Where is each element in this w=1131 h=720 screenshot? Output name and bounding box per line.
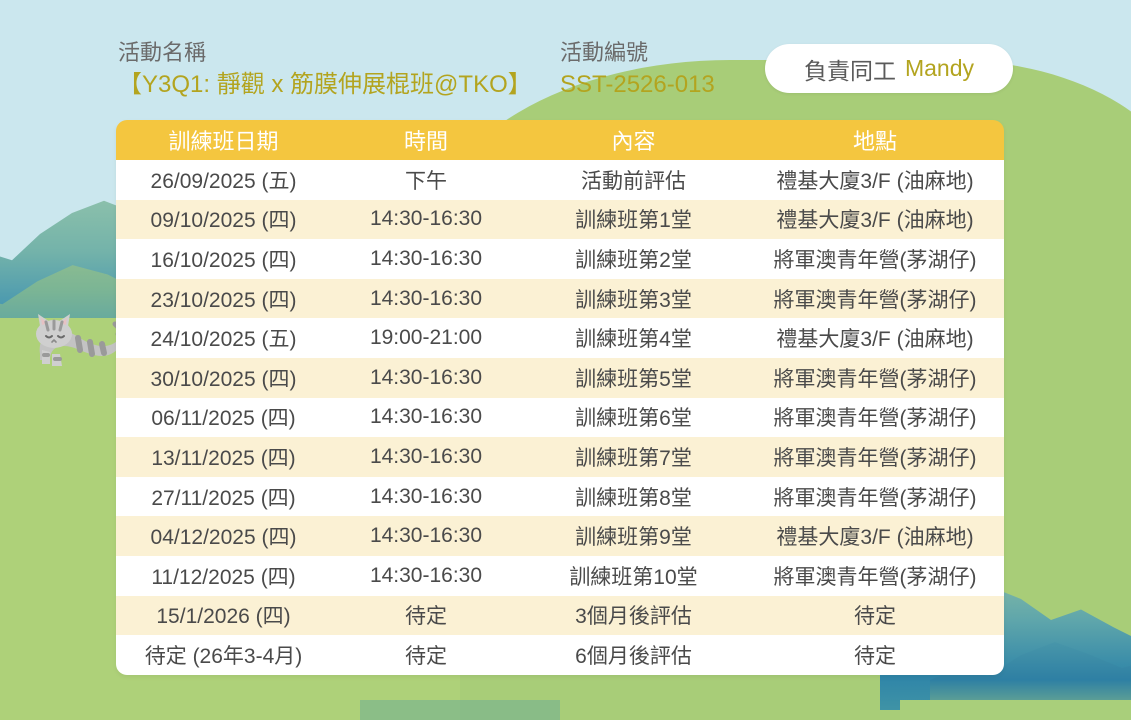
- cell-venue: 禮基大廈3/F (油麻地): [746, 165, 1004, 195]
- cell-venue: 禮基大廈3/F (油麻地): [746, 204, 1004, 234]
- cell-date: 09/10/2025 (四): [116, 204, 331, 234]
- staff-in-charge-badge: 負責同工 Mandy: [765, 44, 1013, 93]
- cell-date: 24/10/2025 (五): [116, 323, 331, 353]
- cell-date: 13/11/2025 (四): [116, 442, 331, 472]
- cell-time: 19:00-21:00: [331, 326, 521, 350]
- cell-topic: 訓練班第4堂: [521, 323, 746, 353]
- cell-date: 04/12/2025 (四): [116, 521, 331, 551]
- cell-venue: 將軍澳青年營(茅湖仔): [746, 402, 1004, 432]
- cell-topic: 訓練班第1堂: [521, 204, 746, 234]
- poster-canvas: 活動名稱 【Y3Q1: 靜觀 x 筋膜伸展棍班@TKO】 活動編號 SST-25…: [0, 0, 1131, 720]
- cell-venue: 將軍澳青年營(茅湖仔): [746, 363, 1004, 393]
- cell-time: 待定: [331, 640, 521, 670]
- activity-code-value: SST-2526-013: [560, 68, 715, 101]
- cell-venue: 禮基大廈3/F (油麻地): [746, 521, 1004, 551]
- cell-venue: 將軍澳青年營(茅湖仔): [746, 482, 1004, 512]
- cell-date: 16/10/2025 (四): [116, 244, 331, 274]
- cell-date: 11/12/2025 (四): [116, 561, 331, 591]
- activity-name-block: 活動名稱 【Y3Q1: 靜觀 x 筋膜伸展棍班@TKO】: [118, 38, 532, 101]
- cell-venue: 將軍澳青年營(茅湖仔): [746, 442, 1004, 472]
- cell-venue: 待定: [746, 640, 1004, 670]
- cell-time: 14:30-16:30: [331, 445, 521, 469]
- cell-time: 待定: [331, 600, 521, 630]
- cell-date: 27/11/2025 (四): [116, 482, 331, 512]
- cell-venue: 將軍澳青年營(茅湖仔): [746, 284, 1004, 314]
- cell-date: 待定 (26年3-4月): [116, 640, 331, 670]
- cell-topic: 活動前評估: [521, 165, 746, 195]
- cell-topic: 訓練班第7堂: [521, 442, 746, 472]
- cell-time: 14:30-16:30: [331, 207, 521, 231]
- cell-topic: 訓練班第2堂: [521, 244, 746, 274]
- table-body: 26/09/2025 (五)下午活動前評估禮基大廈3/F (油麻地)09/10/…: [116, 160, 1004, 675]
- cell-topic: 訓練班第9堂: [521, 521, 746, 551]
- table-row: 09/10/2025 (四)14:30-16:30訓練班第1堂禮基大廈3/F (…: [116, 200, 1004, 240]
- activity-name-value: 【Y3Q1: 靜觀 x 筋膜伸展棍班@TKO】: [118, 68, 532, 101]
- cell-time: 14:30-16:30: [331, 247, 521, 271]
- cell-venue: 將軍澳青年營(茅湖仔): [746, 244, 1004, 274]
- table-row: 15/1/2026 (四)待定3個月後評估待定: [116, 596, 1004, 636]
- schedule-table: 訓練班日期 時間 內容 地點 26/09/2025 (五)下午活動前評估禮基大廈…: [116, 120, 1004, 675]
- water-strip-bottom: [360, 700, 560, 720]
- cell-time: 14:30-16:30: [331, 485, 521, 509]
- cell-time: 14:30-16:30: [331, 524, 521, 548]
- table-row: 26/09/2025 (五)下午活動前評估禮基大廈3/F (油麻地): [116, 160, 1004, 200]
- activity-code-label: 活動編號: [560, 38, 715, 68]
- cell-time: 14:30-16:30: [331, 287, 521, 311]
- cat-icon: [22, 300, 130, 378]
- cell-time: 14:30-16:30: [331, 564, 521, 588]
- cell-date: 30/10/2025 (四): [116, 363, 331, 393]
- cell-venue: 待定: [746, 600, 1004, 630]
- table-row: 04/12/2025 (四)14:30-16:30訓練班第9堂禮基大廈3/F (…: [116, 516, 1004, 556]
- column-header-venue: 地點: [746, 124, 1004, 156]
- grass-strip-bottom-right: [900, 700, 1131, 720]
- cell-topic: 訓練班第6堂: [521, 402, 746, 432]
- column-header-time: 時間: [331, 124, 521, 156]
- table-row: 23/10/2025 (四)14:30-16:30訓練班第3堂將軍澳青年營(茅湖…: [116, 279, 1004, 319]
- cell-venue: 禮基大廈3/F (油麻地): [746, 323, 1004, 353]
- cell-topic: 3個月後評估: [521, 600, 746, 630]
- cell-topic: 訓練班第3堂: [521, 284, 746, 314]
- table-row: 06/11/2025 (四)14:30-16:30訓練班第6堂將軍澳青年營(茅湖…: [116, 398, 1004, 438]
- table-row: 30/10/2025 (四)14:30-16:30訓練班第5堂將軍澳青年營(茅湖…: [116, 358, 1004, 398]
- column-header-topic: 內容: [521, 124, 746, 156]
- cell-date: 26/09/2025 (五): [116, 165, 331, 195]
- activity-code-block: 活動編號 SST-2526-013: [560, 38, 715, 101]
- column-header-date: 訓練班日期: [116, 124, 331, 156]
- table-row: 待定 (26年3-4月)待定6個月後評估待定: [116, 635, 1004, 675]
- cell-topic: 訓練班第5堂: [521, 363, 746, 393]
- cell-time: 14:30-16:30: [331, 405, 521, 429]
- table-row: 24/10/2025 (五)19:00-21:00訓練班第4堂禮基大廈3/F (…: [116, 318, 1004, 358]
- cell-topic: 訓練班第8堂: [521, 482, 746, 512]
- table-row: 27/11/2025 (四)14:30-16:30訓練班第8堂將軍澳青年營(茅湖…: [116, 477, 1004, 517]
- table-row: 13/11/2025 (四)14:30-16:30訓練班第7堂將軍澳青年營(茅湖…: [116, 437, 1004, 477]
- cell-time: 14:30-16:30: [331, 366, 521, 390]
- staff-label: 負責同工: [804, 52, 896, 86]
- table-header-row: 訓練班日期 時間 內容 地點: [116, 120, 1004, 160]
- table-row: 16/10/2025 (四)14:30-16:30訓練班第2堂將軍澳青年營(茅湖…: [116, 239, 1004, 279]
- cell-topic: 6個月後評估: [521, 640, 746, 670]
- staff-name: Mandy: [905, 55, 974, 82]
- cell-date: 06/11/2025 (四): [116, 402, 331, 432]
- cell-venue: 將軍澳青年營(茅湖仔): [746, 561, 1004, 591]
- table-row: 11/12/2025 (四)14:30-16:30訓練班第10堂將軍澳青年營(茅…: [116, 556, 1004, 596]
- cell-date: 15/1/2026 (四): [116, 600, 331, 630]
- activity-name-label: 活動名稱: [118, 38, 532, 68]
- cell-topic: 訓練班第10堂: [521, 561, 746, 591]
- cell-date: 23/10/2025 (四): [116, 284, 331, 314]
- cell-time: 下午: [331, 165, 521, 195]
